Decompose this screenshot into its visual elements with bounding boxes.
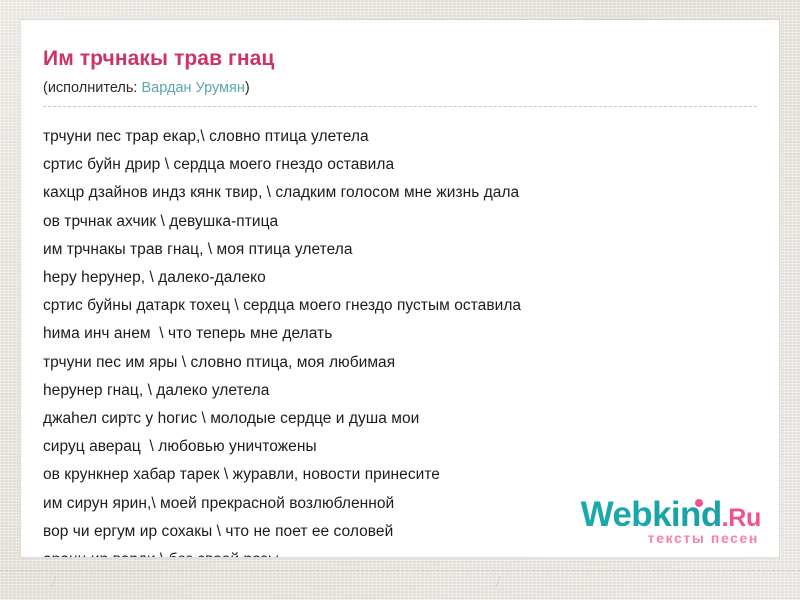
logo-kind-text: kind (652, 495, 722, 534)
site-logo[interactable]: Webkind.Ru тексты песен (581, 497, 761, 545)
lyrics-line: ов трчнак ахчик \ девушка-птица (43, 208, 757, 236)
performer-label: (исполнитель: (43, 80, 137, 96)
lyrics-line: һима инч анем \ что теперь мне делать (43, 320, 757, 348)
lyrics-line: трчуни пес им яры \ словно птица, моя лю… (43, 349, 757, 377)
lyrics-line: джаһел сиртс у һогис \ молодые сердце и … (43, 405, 757, 433)
lyrics-block: трчуни пес трар екар,\ словно птица улет… (21, 107, 779, 557)
lyrics-line: аранц ир варди \ без своей розы (43, 546, 757, 557)
logo-tld-text: .Ru (722, 504, 761, 532)
performer-link[interactable]: Вардан Урумян (141, 80, 244, 96)
lyrics-line: һepy һерунер, \ далеко-далеко (43, 264, 757, 292)
performer-line: (исполнитель: Вардан Урумян) (43, 79, 757, 106)
logo-web-text: Web (581, 495, 652, 534)
lyrics-line: трчуни пес трар екар,\ словно птица улет… (43, 123, 757, 151)
lyrics-line: ов крункнер хабар тарек \ журавли, новос… (43, 461, 757, 489)
song-content-card: Им трчнакы трав гнац (исполнитель: Варда… (21, 20, 779, 557)
lyrics-line: сртис буйн дрир \ сердца моего гнездо ос… (43, 151, 757, 179)
lyrics-line: һерунер гнац, \ далеко улетела (43, 377, 757, 405)
background-dashed-rule (0, 570, 800, 571)
song-header: Им трчнакы трав гнац (исполнитель: Варда… (21, 20, 779, 106)
page-title: Им трчнакы трав гнац (43, 46, 757, 72)
lyrics-line: сируц аверац \ любовью уничтожены (43, 433, 757, 461)
lyrics-line: сртис буйны датарк тохец \ сердца моего … (43, 292, 757, 320)
performer-paren-close: ) (245, 80, 250, 96)
lyrics-line: кахцр дзайнов индз кянк твир, \ сладким … (43, 179, 757, 207)
lyrics-line: им трчнакы трав гнац, \ моя птица улетел… (43, 236, 757, 264)
logo-i-dot-icon (695, 499, 703, 507)
